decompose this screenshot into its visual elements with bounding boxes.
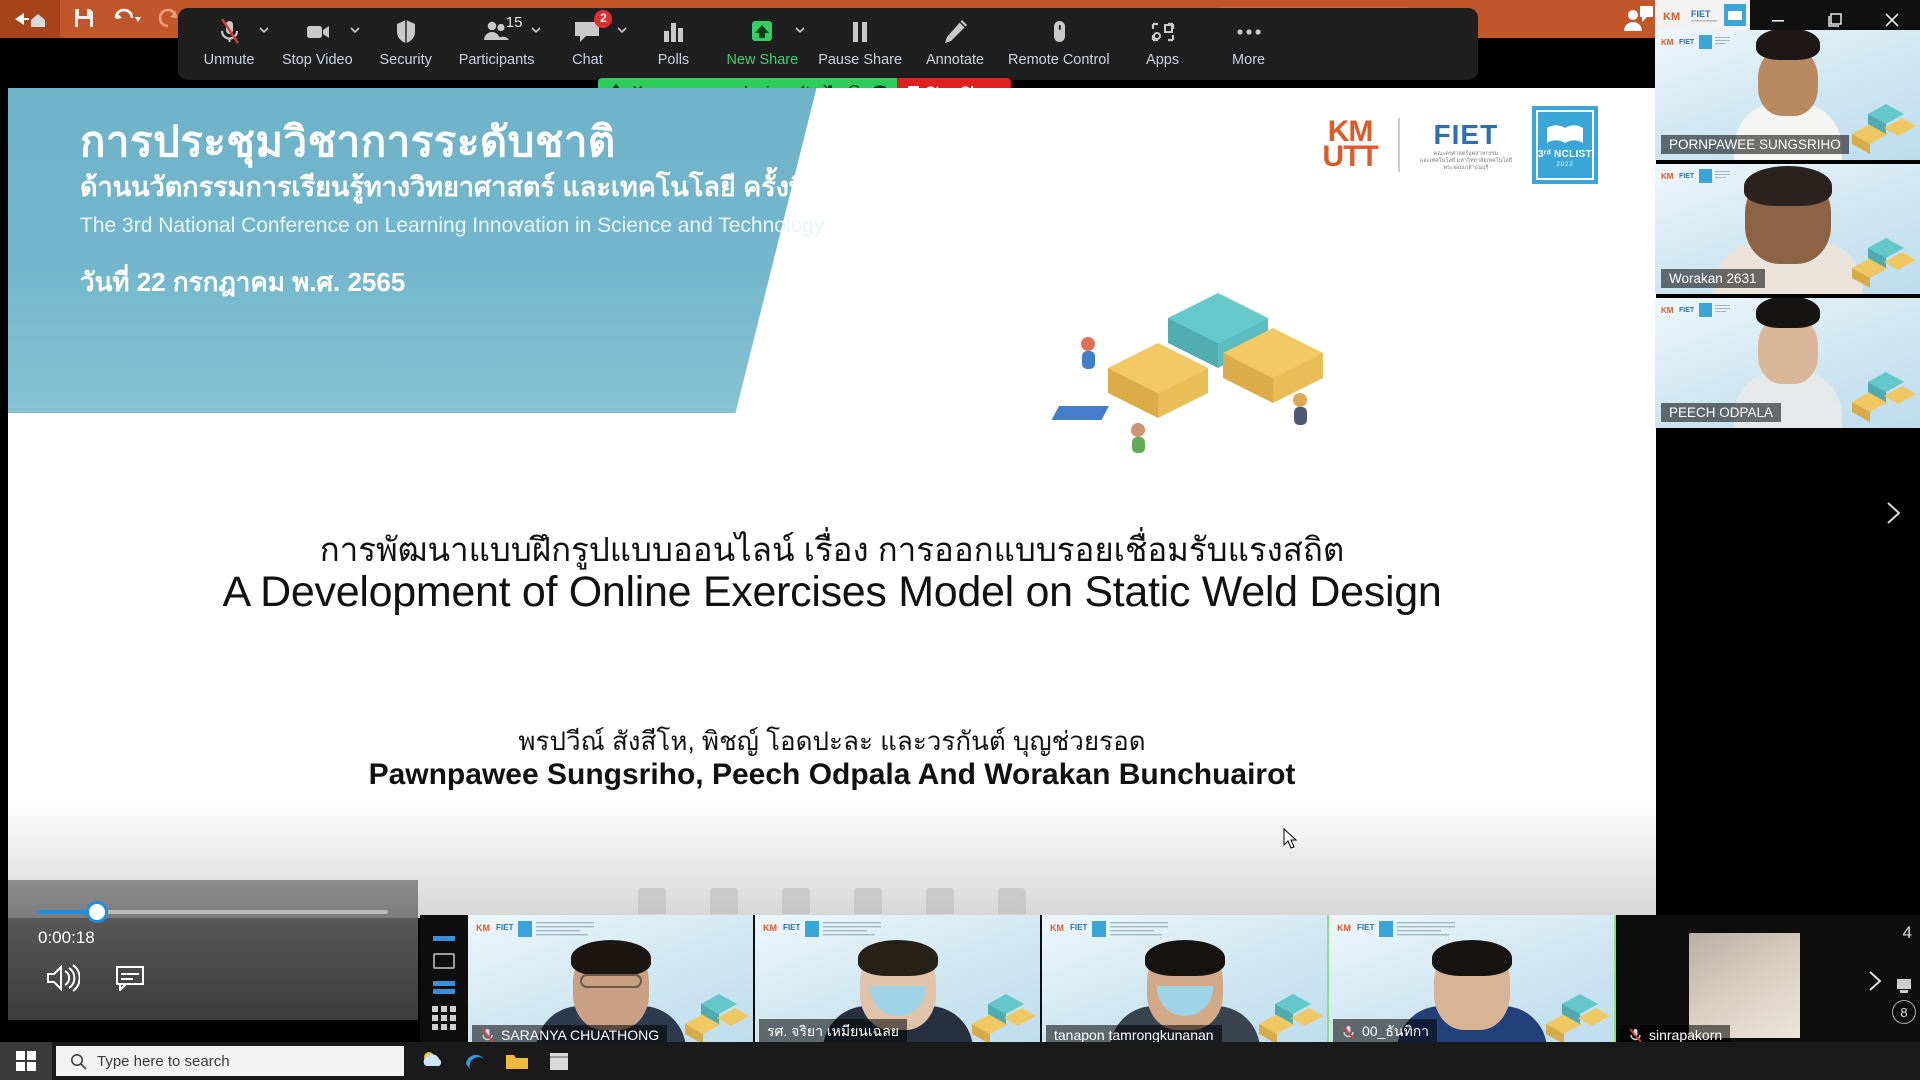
nclist-year: 2022 xyxy=(1556,162,1573,168)
pause-icon xyxy=(843,14,877,50)
slide-authors-english: Pawnpawee Sungsriho, Peech Odpala And Wo… xyxy=(8,758,1656,792)
filmstrip-pager: 8 xyxy=(1892,976,1916,1024)
fiet-sub1: คณะครุศาสตร์อุตสาหกรรม xyxy=(1420,151,1512,158)
toolbar-button-label: Polls xyxy=(658,52,689,68)
decor-shape xyxy=(926,888,954,914)
toolbar-button-label: More xyxy=(1232,52,1265,68)
toolbar-button-polls[interactable]: Polls xyxy=(630,8,716,80)
nclist-isometric-art xyxy=(1532,984,1610,1046)
view-split-icon[interactable] xyxy=(433,981,455,994)
open-book-icon xyxy=(1545,123,1585,147)
toolbar-button-apps[interactable]: Apps xyxy=(1120,8,1206,80)
toolbar-button-label: Security xyxy=(379,52,431,68)
slide-header-logos: KM FIET xyxy=(1337,919,1457,943)
windows-taskbar: Type here to search xyxy=(0,1042,1920,1080)
toolbar-button-security[interactable]: Security xyxy=(363,8,449,80)
nclist-isometric-illustration xyxy=(1048,248,1348,458)
fiet-sub2: และเทคโนโลยี มหาวิทยาลัยเทคโนโลยี xyxy=(1420,158,1512,165)
microphone-muted-icon xyxy=(480,1028,495,1043)
close-icon xyxy=(1883,11,1901,29)
svg-text:KM: KM xyxy=(1050,923,1064,933)
video-camera-icon xyxy=(300,17,334,47)
participant-hair xyxy=(1432,940,1512,976)
explorer-icon[interactable] xyxy=(504,1048,530,1074)
svg-text:FIET: FIET xyxy=(1679,307,1695,314)
nclist-isometric-art xyxy=(1838,228,1916,290)
pause-icon xyxy=(843,17,877,47)
participant-tile[interactable]: KM FIET PORNPAWEE SUNGSRIHO xyxy=(1655,30,1920,160)
screen-root: เสนอ KM FIET xyxy=(0,0,1920,1080)
svg-text:FIET: FIET xyxy=(1070,923,1087,932)
edge-icon[interactable] xyxy=(462,1048,488,1074)
player-progress-track[interactable] xyxy=(38,910,388,914)
pencil-icon xyxy=(938,14,972,50)
kmutt-line2: UTT xyxy=(1322,145,1377,170)
participant-hair xyxy=(858,940,938,976)
store-icon[interactable] xyxy=(546,1048,572,1074)
back-home-icon xyxy=(13,8,47,30)
toolbar-button-more[interactable]: More xyxy=(1206,8,1292,80)
svg-text:KM: KM xyxy=(1661,306,1674,315)
slide-title-english: A Development of Online Exercises Model … xyxy=(8,568,1656,617)
shield-icon xyxy=(389,17,423,47)
ribbon-redo-button[interactable] xyxy=(156,6,180,30)
media-player-overlay: 0:00:18 xyxy=(8,880,418,1020)
shared-slide: การประชุมวิชาการระดับชาติ ด้านนวัตกรรมกา… xyxy=(8,88,1656,918)
nclist-mini-logo xyxy=(1723,5,1747,25)
participant-filmstrip: KM FIET SARANYA CHUATHONG xyxy=(420,915,1920,1050)
view-single-icon[interactable] xyxy=(433,953,455,969)
microphone-muted-icon xyxy=(1341,1025,1356,1040)
participant-tile[interactable]: KM FIET Worakan 2631 xyxy=(1655,164,1920,294)
decor-shape xyxy=(782,888,810,914)
slide-banner-text: การประชุมวิชาการระดับชาติ ด้านนวัตกรรมกา… xyxy=(80,116,829,303)
filmstrip-dock-icon[interactable] xyxy=(1894,976,1914,996)
svg-text:KM: KM xyxy=(1661,38,1674,47)
banner-line2: ด้านนวัตกรรมการเรียนรู้ทางวิทยาศาสตร์ แล… xyxy=(80,168,829,206)
slide-header-logos: KM FIET xyxy=(763,919,883,943)
account-icon xyxy=(1620,4,1654,34)
polls-bar-chart-icon xyxy=(656,17,690,47)
participant-hair xyxy=(571,940,651,976)
slide-header-logos: KM FIET xyxy=(1661,168,1731,184)
participant-name: PEECH ODPALA xyxy=(1661,403,1781,422)
player-current-time: 0:00:18 xyxy=(38,928,95,948)
ellipsis-icon xyxy=(1232,17,1266,47)
redo-icon xyxy=(156,6,180,30)
filmstrip-view-controls xyxy=(420,915,468,1050)
filmstrip-right-controls: 4 8 xyxy=(1800,915,1920,1050)
filmstrip-next-icon[interactable] xyxy=(1864,970,1886,992)
taskbar-pinned-apps xyxy=(420,1048,572,1074)
slide-logos: KM UTT FIET คณะครุศาสตร์อุตสาหกรรม และเท… xyxy=(1322,106,1598,184)
toolbar-button-label: Pause Share xyxy=(818,52,902,68)
filmstrip-tile[interactable]: KM FIET รศ. จริยา เหมียนเฉลย xyxy=(755,915,1042,1050)
toolbar-button-participants[interactable]: Participants15 xyxy=(449,8,545,80)
svg-text:KM: KM xyxy=(1661,172,1674,181)
pencil-icon xyxy=(938,17,972,47)
decor-shape xyxy=(854,888,882,914)
mouse-cursor xyxy=(1283,828,1299,850)
svg-text:FIET: FIET xyxy=(1679,173,1695,180)
slide-header-logos: KM FIET xyxy=(476,919,596,943)
undo-icon xyxy=(112,6,142,30)
chevron-down-icon[interactable] xyxy=(349,24,361,36)
account-button[interactable] xyxy=(1620,4,1654,34)
toolbar-button-stop-video[interactable]: Stop Video xyxy=(272,8,363,80)
filmstrip-tile[interactable]: KM FIET tanapon tamrongkunanan xyxy=(1042,915,1329,1050)
apps-icon xyxy=(1146,14,1180,50)
participant-hair xyxy=(1756,298,1820,328)
svg-text:KM: KM xyxy=(1337,923,1351,933)
nclist-isometric-art xyxy=(1838,362,1916,424)
toolbar-button-label: New Share xyxy=(726,52,798,68)
nclist-isometric-art xyxy=(671,984,749,1046)
chevron-down-icon[interactable] xyxy=(794,24,806,36)
participant-name: Worakan 2631 xyxy=(1661,269,1765,288)
nclist-text: 3ʳᵈ NCLIST xyxy=(1538,149,1592,160)
mouse-icon xyxy=(1042,17,1076,47)
ribbon-undo-button[interactable] xyxy=(112,6,142,30)
svg-text:FIET: FIET xyxy=(496,923,513,932)
nclist-isometric-art xyxy=(958,984,1036,1046)
split-bar xyxy=(433,981,455,986)
microphone-muted-icon xyxy=(1628,1028,1643,1043)
fiet-mini-logo: FIET xyxy=(1691,5,1717,25)
filmstrip-tile[interactable]: KM FIET SARANYA CHUATHONG xyxy=(468,915,755,1050)
split-bar xyxy=(433,989,455,994)
captions-icon[interactable] xyxy=(116,965,146,991)
toolbar-button-label: Stop Video xyxy=(282,52,353,68)
filmstrip-tiles: KM FIET SARANYA CHUATHONG xyxy=(468,915,1903,1050)
nclist-isometric-art xyxy=(1245,984,1323,1046)
participant-hair xyxy=(1744,166,1832,206)
decor-shape xyxy=(710,888,738,914)
toolbar-button-label: Remote Control xyxy=(1008,52,1110,68)
next-page-arrow-button[interactable] xyxy=(1880,500,1906,526)
ribbon-home-button[interactable] xyxy=(0,0,60,38)
banner-line4: วันที่ 22 กรกฎาคม พ.ศ. 2565 xyxy=(80,262,829,303)
nclist-isometric-art xyxy=(1838,94,1916,156)
toolbar-button-pause-share[interactable]: Pause Share xyxy=(808,8,912,80)
view-speaker-icon[interactable] xyxy=(433,936,455,941)
toolbar-button-annotate[interactable]: Annotate xyxy=(912,8,998,80)
slide-authors-thai: พรปวีณ์ สังสีโห, พิชญ์ โอดปะละ และวรกันต… xyxy=(8,721,1656,762)
svg-text:FIET: FIET xyxy=(1679,39,1695,46)
participant-count: 15 xyxy=(506,14,523,31)
player-buttons xyxy=(46,964,146,992)
taskbar-search-placeholder: Type here to search xyxy=(97,1053,230,1070)
fiet-logo: FIET คณะครุศาสตร์อุตสาหกรรม และเทคโนโลยี… xyxy=(1420,119,1512,172)
toolbar-button-label: Apps xyxy=(1146,52,1179,68)
chevron-down-icon[interactable] xyxy=(530,24,542,36)
weather-icon[interactable] xyxy=(420,1048,446,1074)
svg-text:FIET: FIET xyxy=(1691,9,1711,19)
toolbar-button-unmute[interactable]: Unmute xyxy=(186,8,272,80)
player-progress-knob[interactable] xyxy=(86,901,108,923)
banner-line1: การประชุมวิชาการระดับชาติ xyxy=(80,116,829,168)
banner-line3: The 3rd National Conference on Learning … xyxy=(80,206,829,246)
svg-text:FIET: FIET xyxy=(783,923,800,932)
start-button[interactable] xyxy=(0,1042,52,1080)
windows-start-icon xyxy=(16,1051,36,1071)
slide-header-logos: KM FIET xyxy=(1661,302,1731,318)
decor-shape xyxy=(998,888,1026,914)
fiet-sub3: พระจอมเกล้าธนบุรี xyxy=(1420,165,1512,172)
share-screen-up-arrow-icon xyxy=(745,17,779,47)
view-gallery-icon[interactable] xyxy=(432,1006,456,1030)
volume-icon[interactable] xyxy=(46,964,80,992)
filmstrip-page-bubble[interactable]: 8 xyxy=(1892,1000,1916,1024)
kmutt-mini-logo: KM xyxy=(1663,5,1685,25)
participant-name: PORNPAWEE SUNGSRIHO xyxy=(1661,135,1849,154)
chevron-down-icon[interactable] xyxy=(258,24,270,36)
apps-icon xyxy=(1146,17,1180,47)
shield-icon xyxy=(389,14,423,50)
svg-text:KM: KM xyxy=(763,923,777,933)
ribbon-save-button[interactable] xyxy=(72,6,96,30)
svg-text:FIET: FIET xyxy=(1357,923,1374,932)
save-icon xyxy=(72,6,96,30)
fiet-main-text: FIET xyxy=(1420,119,1512,151)
participant-hair xyxy=(1145,940,1225,976)
maximize-icon xyxy=(1826,11,1844,29)
polls-bar-chart-icon xyxy=(656,14,690,50)
toolbar-button-chat[interactable]: Chat2 xyxy=(544,8,630,80)
notification-badge: 2 xyxy=(594,10,612,28)
share-screen-up-arrow-icon xyxy=(745,14,779,50)
kmutt-logo: KM UTT xyxy=(1322,120,1377,169)
toolbar-button-label: Chat xyxy=(572,52,603,68)
minimize-icon xyxy=(1769,11,1787,29)
toolbar-button-remote-control[interactable]: Remote Control xyxy=(998,8,1120,80)
toolbar-button-label: Unmute xyxy=(204,52,255,68)
participant-video-strip: KM FIET PORNPAWEE SUNGSRIHO KM FIET xyxy=(1655,30,1920,445)
microphone-muted-icon xyxy=(212,17,246,47)
nclist-logo: 3ʳᵈ NCLIST 2022 xyxy=(1532,106,1598,184)
slide-header-logos: KM FIET xyxy=(1661,34,1731,50)
nclist-inner: 3ʳᵈ NCLIST 2022 xyxy=(1536,110,1594,180)
participant-hair xyxy=(1756,30,1820,60)
logo-divider xyxy=(1398,118,1400,172)
filmstrip-page-count: 4 xyxy=(1903,923,1912,943)
svg-text:KM: KM xyxy=(1663,11,1680,23)
chevron-down-icon[interactable] xyxy=(616,24,628,36)
decor-shape xyxy=(638,888,666,914)
toolbar-button-label: Participants xyxy=(459,52,535,68)
svg-text:KM: KM xyxy=(476,923,490,933)
participant-tile[interactable]: KM FIET PEECH ODPALA xyxy=(1655,298,1920,428)
microphone-muted-icon xyxy=(212,14,246,50)
zoom-meeting-toolbar: Unmute Stop Video Security Participants1… xyxy=(178,8,1478,80)
search-icon xyxy=(70,1053,87,1070)
taskbar-search[interactable]: Type here to search xyxy=(56,1046,404,1076)
eyeglasses xyxy=(580,974,642,988)
video-camera-icon xyxy=(300,14,334,50)
filmstrip-tile[interactable]: KM FIET 00_ธันทิกา xyxy=(1329,915,1616,1050)
toolbar-button-new-share[interactable]: New Share xyxy=(716,8,808,80)
toolbar-button-label: Annotate xyxy=(926,52,984,68)
slide-header-logos: KM FIET xyxy=(1050,919,1170,943)
ellipsis-icon xyxy=(1232,14,1266,50)
mouse-icon xyxy=(1042,14,1076,50)
